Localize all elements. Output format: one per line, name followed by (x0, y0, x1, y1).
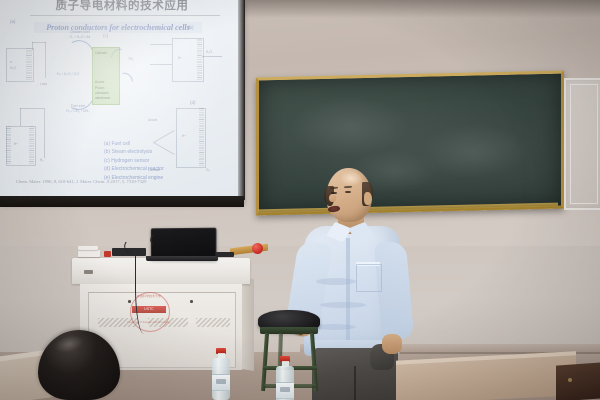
slide-citation: Chem. Mater. 1996, 8, 610-641; J. Mater.… (16, 179, 216, 184)
white-device-top (78, 246, 98, 250)
laptop-keyboard-base[interactable] (146, 256, 218, 261)
membrane-anode-label: Anode (95, 80, 104, 84)
schematic-e-membrane (6, 126, 11, 164)
screen-bottom-bar (0, 196, 244, 207)
bullet-item-c: (c) Hydrogen sensor (104, 157, 214, 165)
furniture-knob (568, 378, 572, 382)
bullet-item-b: (b) Steam electrolysis (104, 148, 214, 156)
chalk-smudge (289, 95, 409, 158)
stool-leg (310, 333, 318, 391)
shirt-placket (346, 238, 350, 350)
schematic-b-membrane (197, 38, 202, 80)
oxidant-inlet-label: Oxidant inlet (52, 30, 108, 34)
product-h2-label: H₂ (124, 56, 138, 61)
bottle-label-mark (216, 379, 226, 384)
slide-title-rule (30, 15, 220, 16)
lecture-hall-photo: 质子导电材料的技术应用 Proton conductors for electr… (0, 0, 600, 400)
red-ball[interactable] (252, 243, 263, 254)
ear (364, 192, 372, 205)
membrane-inner-line-3: membrane (95, 96, 110, 100)
schematic-e-lead (20, 108, 21, 126)
schematic-b-inlet2 (150, 64, 172, 65)
shirt-fold (316, 278, 356, 285)
red-indicator (104, 251, 111, 257)
oxidant-formula: O₂ / H₂O / Air (52, 35, 108, 39)
white-device[interactable] (78, 250, 100, 257)
schematic-e-label-h2: H₂ (40, 158, 44, 162)
schematic-d-label-anode: Anode (148, 118, 157, 122)
cable-connector (216, 252, 234, 257)
panel-tag-b: (b) (188, 25, 194, 30)
schematic-e-membrane2 (29, 126, 34, 164)
wall-panel (564, 78, 600, 210)
schematic-e-wire2 (44, 108, 45, 158)
schematic-b-inlet (150, 44, 172, 45)
wall-panel-inner-border (570, 84, 598, 204)
schematic-e-wire (20, 108, 44, 109)
podium-screw (190, 300, 193, 303)
schematic-e-label-h: H⁺ (14, 142, 18, 146)
screen-right-edge (238, 0, 245, 200)
dark-wood-furniture (556, 362, 600, 400)
schematic-b-label-h2o: H₂O (206, 50, 212, 54)
slide-title: 质子导电材料的技术应用 (32, 0, 212, 13)
stool-leg (261, 333, 269, 391)
schematic-a-label-h2o: H₂O (10, 66, 16, 70)
power-cable (135, 256, 150, 334)
podium-screw (128, 300, 131, 303)
membrane-inner-line-2: conductor (95, 91, 109, 95)
panel-tag-a: (a) (10, 19, 16, 24)
membrane-cathode-label: Cathode (95, 51, 107, 55)
podium-badge (84, 270, 93, 274)
nose (329, 194, 336, 202)
schematic-a-lead (32, 42, 33, 50)
schematic-b-outlet (202, 56, 222, 57)
trouser-seam (354, 366, 356, 400)
schematic-d-label-h: H⁺ (182, 134, 186, 138)
schematic-a-label-load: Load (40, 82, 47, 86)
head-highlight (340, 171, 362, 186)
schematic-a-wire (32, 42, 46, 43)
bullet-item-a: (a) Fuel cell (104, 140, 214, 148)
podium-right-side (242, 277, 254, 371)
bullet-item-d: (d) Electrochemical reactor (104, 165, 214, 173)
shirt-fold (320, 302, 366, 308)
podium-top-surface (72, 258, 250, 284)
membrane-inner-line-1: Proton (95, 86, 104, 90)
podium-vent-right (196, 318, 230, 327)
panel-tag-d: (d) (190, 100, 196, 105)
schematic-a-membrane (26, 48, 32, 80)
shirt-pocket (356, 264, 382, 292)
slide-bullet-list: (a) Fuel cell (b) Steam electrolysis (c)… (64, 140, 214, 182)
bottle-label-mark (280, 387, 290, 392)
schematic-b-label-h: H⁺ (178, 56, 182, 60)
speaker-right-hand (382, 334, 402, 354)
projection-screen: 质子导电材料的技术应用 Proton conductors for electr… (0, 0, 244, 203)
schematic-a-label-e: e⁻ (10, 60, 13, 64)
